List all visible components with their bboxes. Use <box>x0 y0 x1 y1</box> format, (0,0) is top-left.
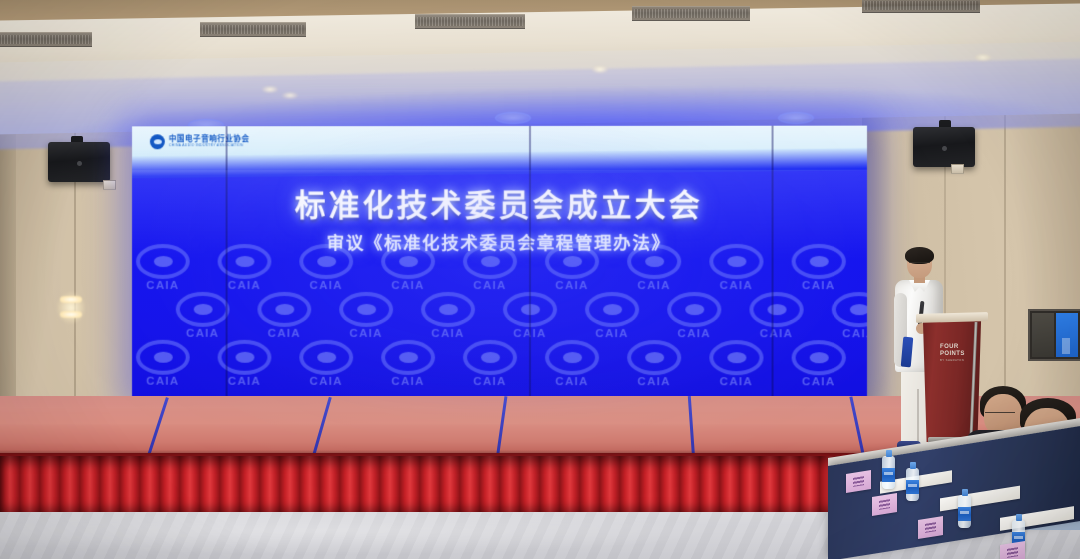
caia-watermark-label: CAIA <box>297 376 355 388</box>
ceiling-vent <box>0 32 92 47</box>
caia-watermark: CAIA <box>216 340 274 388</box>
caia-eye-icon <box>627 340 681 375</box>
podium-top-surface <box>916 312 988 323</box>
caia-watermark-label: CAIA <box>830 328 867 340</box>
caia-watermark-label: CAIA <box>461 376 519 388</box>
wall-plate <box>103 180 116 190</box>
caia-watermark: CAIA <box>625 340 683 388</box>
led-panel-seam <box>772 126 774 402</box>
presentation-title: 标准化技术委员会成立大会 <box>132 180 867 225</box>
association-name-en: CHINA AUDIO INDUSTRY ASSOCIATION <box>169 145 250 148</box>
led-screen-surface: CAIACAIACAIACAIACAIACAIACAIACAIACAIACAIA… <box>132 126 867 402</box>
caia-watermark: CAIA <box>583 292 641 340</box>
caia-watermark-label: CAIA <box>707 376 765 388</box>
caia-eye-icon <box>257 292 311 327</box>
caia-watermark-label: CAIA <box>543 280 601 292</box>
podium-brand-line-1: FOUR <box>940 344 972 350</box>
caia-watermark: CAIA <box>174 292 232 340</box>
attendee-glasses <box>985 412 1015 419</box>
caia-watermark: CAIA <box>297 340 355 388</box>
caia-watermark: CAIA <box>337 292 395 340</box>
control-room-window <box>1028 309 1080 361</box>
caia-eye-icon <box>749 292 803 327</box>
wall-speaker <box>913 127 975 167</box>
caia-watermark-label: CAIA <box>790 376 848 388</box>
wall-plate <box>951 164 964 174</box>
caia-watermark-label: CAIA <box>297 280 355 292</box>
water-bottle <box>882 456 895 489</box>
caia-watermark-label: CAIA <box>134 376 192 388</box>
caia-watermark-label: CAIA <box>790 280 848 292</box>
ceiling-vent <box>632 6 750 21</box>
caia-watermark-label: CAIA <box>216 376 274 388</box>
right-wall-seam <box>1004 100 1006 400</box>
delegate-name-card <box>1000 541 1025 559</box>
caia-eye-icon <box>792 340 846 375</box>
presenter-leg-split <box>917 389 919 447</box>
caia-eye-icon <box>421 292 475 327</box>
caia-watermark-label: CAIA <box>337 328 395 340</box>
wall-speaker <box>48 142 110 182</box>
ceiling-vent <box>200 22 306 37</box>
caia-watermark: CAIA <box>830 292 867 340</box>
caia-watermark: CAIA <box>747 292 805 340</box>
presenter-glasses <box>909 262 930 268</box>
caia-watermark: CAIA <box>379 340 437 388</box>
ceiling-vent <box>862 0 980 13</box>
window-pane-left <box>1032 313 1054 357</box>
caia-watermark: CAIA <box>665 292 723 340</box>
led-panel-seam <box>529 126 531 401</box>
podium-brand-logo: FOUR POINTS BY SHERATON <box>940 344 972 361</box>
wall-sconce-lamp <box>60 311 82 318</box>
podium-brand-line-2: POINTS <box>940 351 972 357</box>
ceiling-downlight <box>592 66 608 73</box>
caia-watermark-pattern: CAIACAIACAIACAIACAIACAIACAIACAIACAIACAIA… <box>132 244 867 395</box>
delegate-name-card <box>846 470 871 493</box>
caia-watermark-label: CAIA <box>543 376 601 388</box>
caia-eye-icon <box>339 292 393 327</box>
caia-watermark-label: CAIA <box>625 280 683 292</box>
caia-watermark: CAIA <box>255 292 313 340</box>
caia-watermark-label: CAIA <box>379 376 437 388</box>
water-bottle <box>906 468 919 501</box>
led-panel-seam <box>226 126 228 400</box>
presentation-subtitle: 审议《标准化技术委员会章程管理办法》 <box>132 230 867 255</box>
ceiling-downlight <box>262 86 278 93</box>
caia-watermark-label: CAIA <box>174 328 232 340</box>
caia-watermark: CAIA <box>461 340 519 388</box>
caia-eye-icon <box>299 340 353 375</box>
caia-eye-icon <box>463 340 517 375</box>
conference-hall-photo: CAIACAIACAIACAIACAIACAIACAIACAIACAIACAIA… <box>0 0 1080 559</box>
caia-eye-icon <box>709 340 763 375</box>
wall-sconce-lamp <box>60 296 82 303</box>
water-bottle <box>958 495 971 528</box>
caia-eye-icon <box>545 340 599 375</box>
caia-watermark: CAIA <box>419 292 477 340</box>
caia-eye-icon <box>381 340 435 375</box>
caia-association-logo: 中国电子音响行业协会 CHINA AUDIO INDUSTRY ASSOCIAT… <box>150 134 250 149</box>
ceiling-vent <box>415 14 525 29</box>
caia-eye-icon <box>832 292 867 327</box>
ceiling-downlight <box>975 54 991 61</box>
caia-watermark-label: CAIA <box>216 280 274 292</box>
ceiling-light-fixture <box>778 112 814 124</box>
delegate-name-card <box>918 516 943 539</box>
caia-watermark: CAIA <box>134 340 192 388</box>
caia-watermark: CAIA <box>790 340 848 388</box>
caia-watermark-label: CAIA <box>625 376 683 388</box>
led-video-wall: CAIACAIACAIACAIACAIACAIACAIACAIACAIACAIA… <box>132 126 867 402</box>
delegate-name-card <box>872 493 897 516</box>
caia-eye-icon <box>176 292 230 327</box>
caia-watermark: CAIA <box>707 340 765 388</box>
caia-watermark-label: CAIA <box>747 328 805 340</box>
caia-watermark-label: CAIA <box>255 328 313 340</box>
caia-eye-icon <box>136 340 190 375</box>
caia-watermark-label: CAIA <box>134 280 192 292</box>
association-name-cn: 中国电子音响行业协会 <box>169 136 250 144</box>
caia-watermark-label: CAIA <box>583 328 641 340</box>
window-pane-right-monitor <box>1056 313 1078 357</box>
ceiling-light-fixture <box>495 112 531 124</box>
caia-watermark-label: CAIA <box>461 280 519 292</box>
caia-watermark-label: CAIA <box>379 280 437 292</box>
caia-eye-icon <box>150 134 165 149</box>
podium-brand-line-3: BY SHERATON <box>940 359 972 362</box>
caia-eye-icon <box>667 292 721 327</box>
caia-watermark-label: CAIA <box>419 328 477 340</box>
caia-watermark: CAIA <box>543 340 601 388</box>
caia-eye-icon <box>585 292 639 327</box>
ceiling-downlight <box>282 92 298 99</box>
caia-watermark-label: CAIA <box>707 280 765 292</box>
caia-watermark-label: CAIA <box>665 328 723 340</box>
